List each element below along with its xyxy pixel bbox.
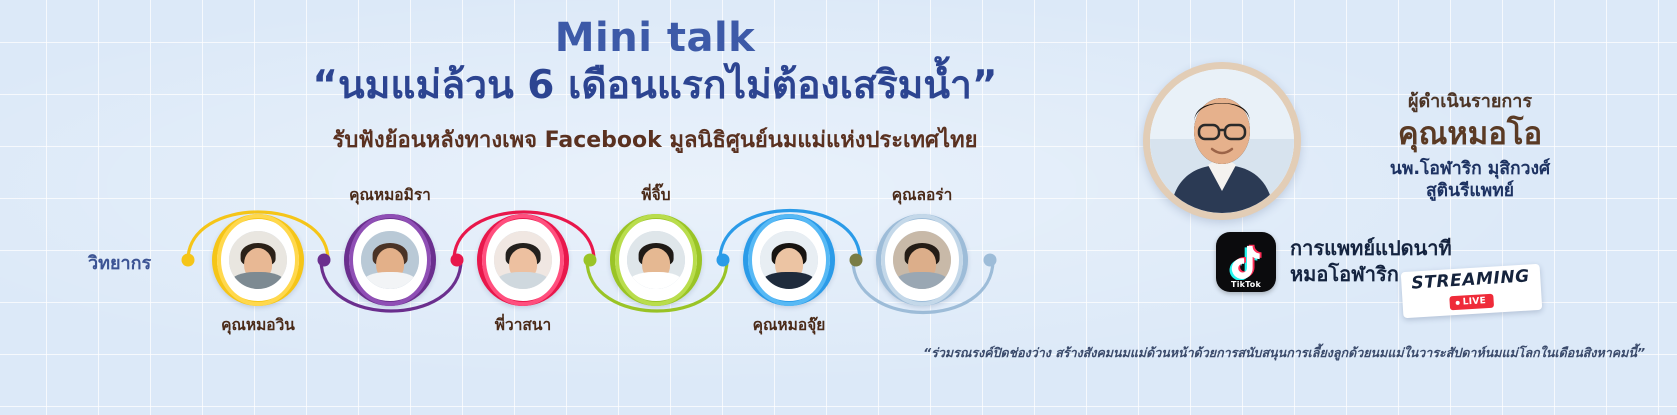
speaker-photo-1 — [358, 228, 422, 292]
speaker-avatar-1[interactable] — [344, 214, 436, 306]
footer-note: “ร่วมรณรงค์ปิดช่องว่าง สร้างสังคมนมแม่ด้… — [845, 343, 1645, 363]
speaker-label-3: พี่จิ๊บ — [641, 182, 670, 207]
title-quote: “นมแม่ล้วน 6 เดือนแรกไม่ต้องเสริมน้ำ” — [250, 62, 1060, 110]
tiktok-wordmark: TikTok — [1216, 280, 1276, 289]
streaming-badge: STREAMING LIVE — [1401, 264, 1542, 318]
speaker-avatar-5[interactable] — [876, 214, 968, 306]
host-avatar[interactable] — [1143, 62, 1301, 220]
speaker-photo-3 — [624, 228, 688, 292]
header-block: Mini talk “นมแม่ล้วน 6 เดือนแรกไม่ต้องเส… — [250, 16, 1060, 157]
host-specialty: สูตินรีแพทย์ — [1300, 181, 1640, 203]
speaker-photo-4 — [757, 228, 821, 292]
streaming-label: STREAMING — [1411, 268, 1530, 292]
speaker-label-2: พี่วาสนา — [495, 312, 551, 337]
channel-line-1: การแพทย์แปดนาที — [1290, 236, 1452, 262]
speaker-avatar-0[interactable] — [212, 214, 304, 306]
speaker-photo-0 — [226, 228, 290, 292]
speaker-photo-2 — [491, 228, 555, 292]
page-title: Mini talk — [250, 16, 1060, 60]
speaker-photo-5 — [890, 228, 954, 292]
tiktok-note-glyph — [1229, 244, 1263, 280]
live-label: LIVE — [1462, 296, 1486, 307]
speaker-avatar-2[interactable] — [477, 214, 569, 306]
speaker-label-1: คุณหมอมิรา — [349, 182, 431, 207]
host-fullname: นพ.โอฬาริก มุสิกวงศ์ — [1300, 159, 1640, 181]
promo-banner: Mini talk “นมแม่ล้วน 6 เดือนแรกไม่ต้องเส… — [0, 0, 1677, 415]
speaker-label-4: คุณหมอจุ๊ย — [753, 312, 826, 337]
speaker-avatar-3[interactable] — [610, 214, 702, 306]
host-info: ผู้ดำเนินรายการ คุณหมอโอ นพ.โอฬาริก มุสิ… — [1300, 86, 1640, 202]
live-pill: LIVE — [1449, 294, 1494, 311]
speaker-timeline: คุณหมอวิน คุณหมอมิรา — [0, 178, 1060, 348]
speaker-avatar-4[interactable] — [743, 214, 835, 306]
subtitle: รับฟังย้อนหลังทางเพจ Facebook มูลนิธิศูน… — [250, 122, 1060, 157]
live-dot-icon — [1456, 300, 1460, 304]
speaker-label-5: คุณลอร่า — [892, 182, 953, 207]
speaker-label-0: คุณหมอวิน — [221, 312, 295, 337]
host-role-label: ผู้ดำเนินรายการ — [1300, 86, 1640, 115]
host-portrait — [1150, 69, 1294, 213]
host-name: คุณหมอโอ — [1300, 117, 1640, 153]
tiktok-icon[interactable]: TikTok — [1216, 232, 1276, 292]
